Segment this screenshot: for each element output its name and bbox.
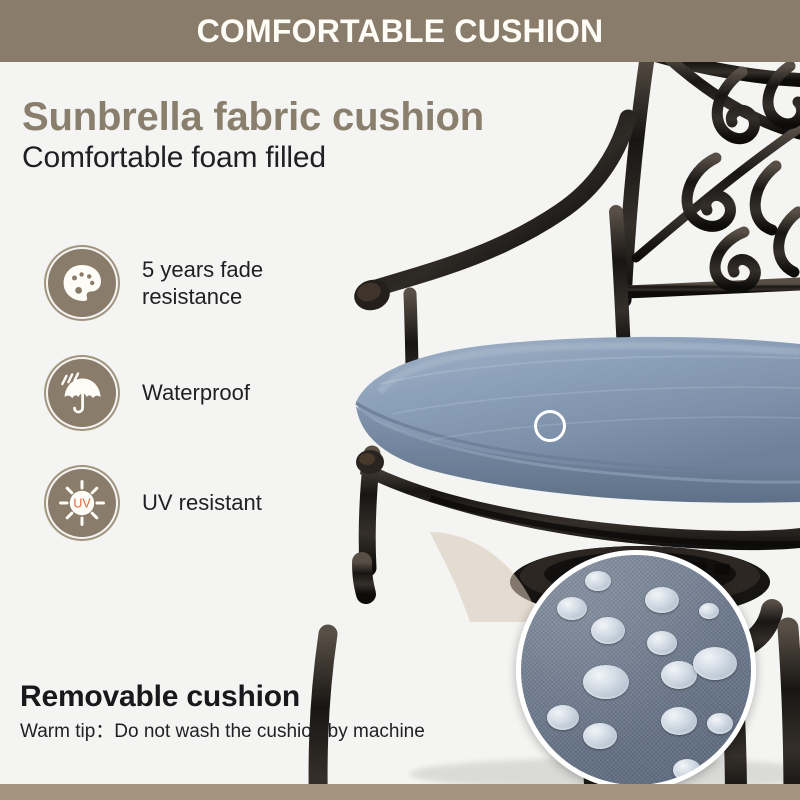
uv-badge-text: UV bbox=[73, 497, 91, 511]
header-banner: COMFORTABLE CUSHION bbox=[0, 0, 800, 62]
feature-item-uv-resistant: UV UV resistant bbox=[48, 466, 348, 540]
feature-label: UV resistant bbox=[142, 489, 262, 516]
umbrella-rain-icon bbox=[48, 359, 116, 427]
feature-item-fade-resistance: 5 years fade resistance bbox=[48, 246, 348, 320]
water-beading-detail-callout bbox=[516, 550, 756, 790]
subheadline: Comfortable foam filled bbox=[22, 141, 326, 175]
floor-strip bbox=[0, 784, 800, 800]
feature-label-line2: resistance bbox=[142, 283, 263, 310]
warm-tip-note: Warm tip：Do not wash the cushion by mach… bbox=[20, 716, 425, 743]
removable-cushion-title: Removable cushion bbox=[20, 680, 300, 714]
feature-label: 5 years fade resistance bbox=[142, 256, 263, 311]
feature-label-line1: Waterproof bbox=[142, 379, 250, 406]
feature-badge bbox=[48, 249, 116, 317]
feature-label-line1: 5 years fade bbox=[142, 256, 263, 283]
uv-sun-icon: UV bbox=[48, 469, 116, 537]
product-infographic: COMFORTABLE CUSHION Sunbrella fabric cus… bbox=[0, 0, 800, 800]
feature-list: 5 years fade resistance Waterproof bbox=[48, 246, 348, 576]
page-title: COMFORTABLE CUSHION bbox=[197, 13, 604, 50]
feature-item-waterproof: Waterproof bbox=[48, 356, 348, 430]
feature-badge bbox=[48, 359, 116, 427]
feature-label: Waterproof bbox=[142, 379, 250, 406]
paint-palette-icon bbox=[48, 249, 116, 317]
headline: Sunbrella fabric cushion bbox=[22, 95, 484, 140]
feature-label-line1: UV resistant bbox=[142, 489, 262, 516]
feature-badge: UV bbox=[48, 469, 116, 537]
cushion-callout-marker bbox=[534, 410, 566, 442]
